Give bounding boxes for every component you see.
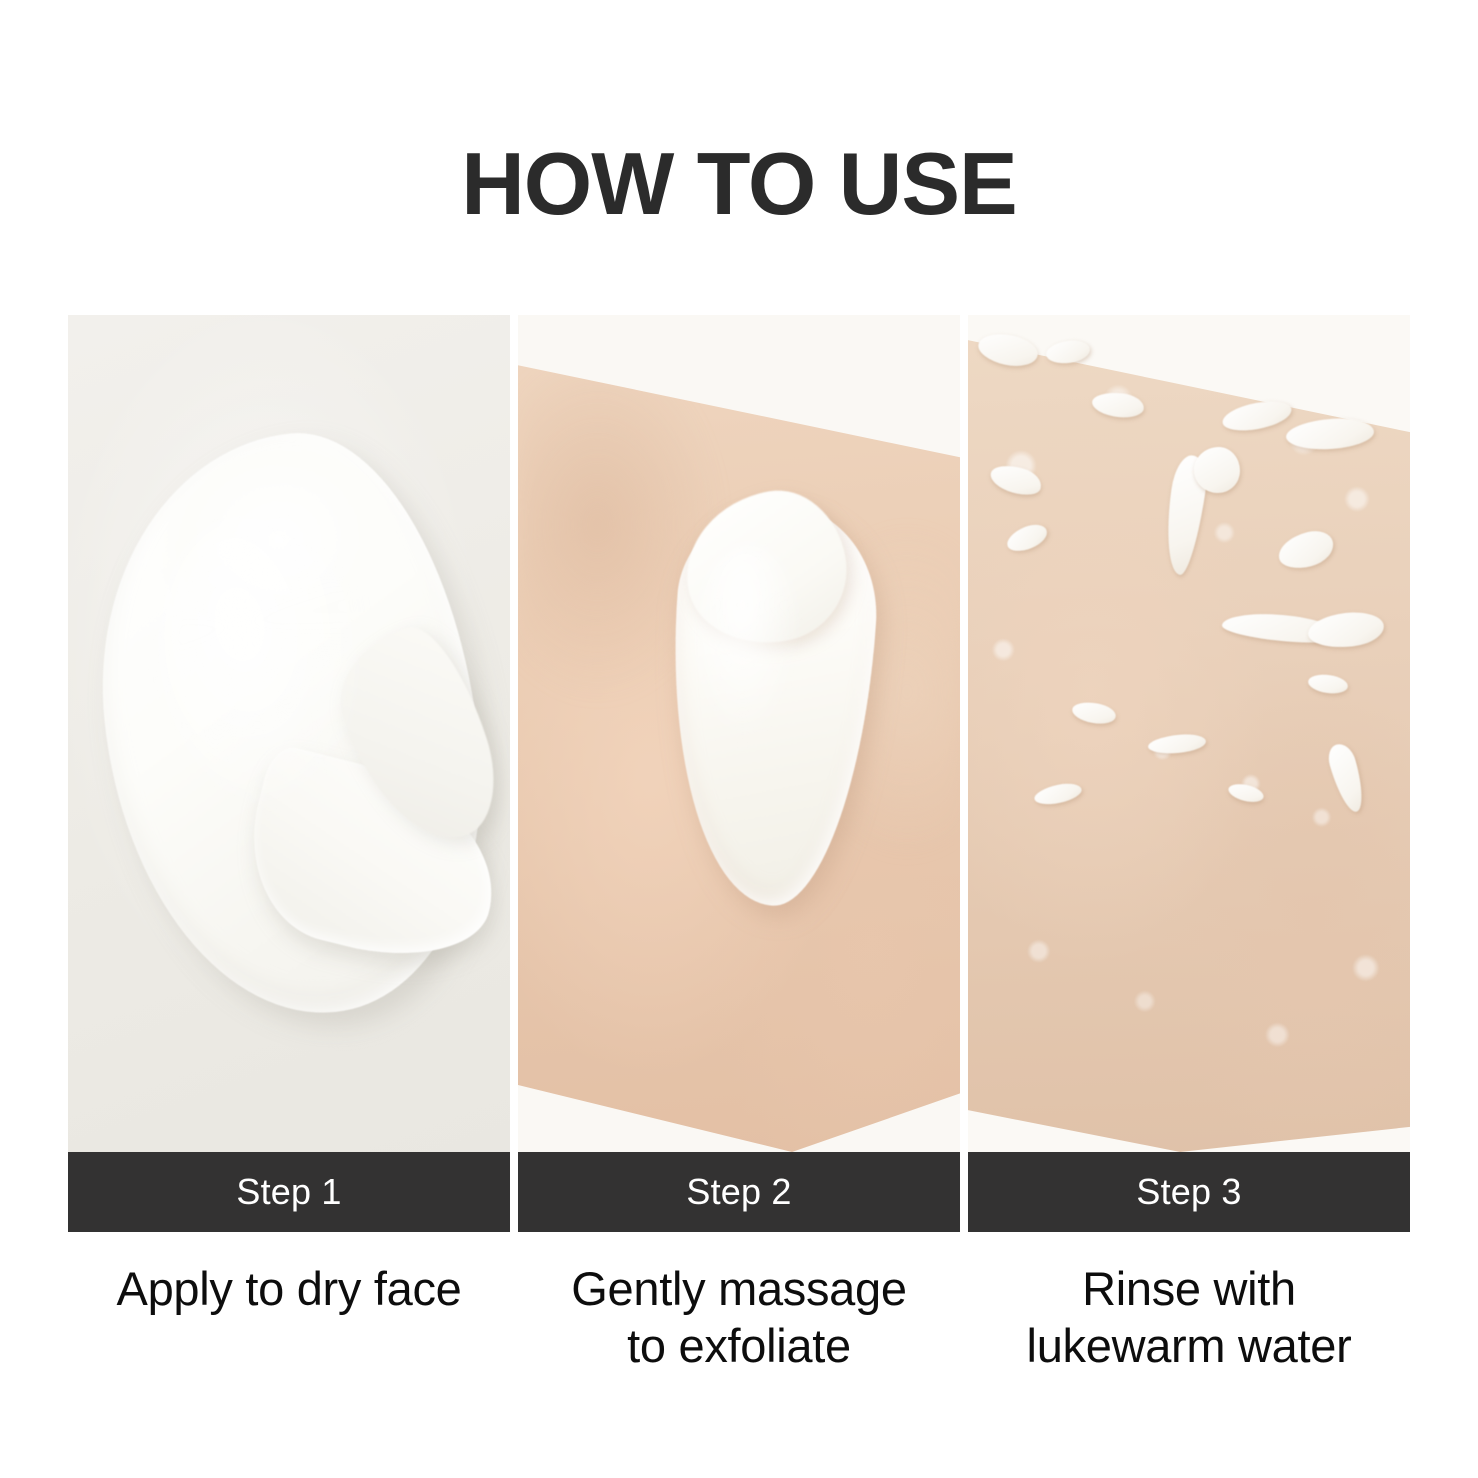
step-2-caption-line-2: to exfoliate	[518, 1317, 960, 1374]
step-1-badge: Step 1	[68, 1152, 510, 1232]
exfoliant-flake	[1194, 447, 1240, 493]
step-card-3: Step 3 Rinse with lukewarm water	[968, 315, 1410, 1375]
step-2-caption-line-1: Gently massage	[518, 1260, 960, 1317]
step-3-caption: Rinse with lukewarm water	[968, 1260, 1410, 1375]
step-3-badge: Step 3	[968, 1152, 1410, 1232]
step-2-caption: Gently massage to exfoliate	[518, 1260, 960, 1375]
step-1-badge-label: Step 1	[236, 1174, 341, 1210]
step-3-caption-line-2: lukewarm water	[968, 1317, 1410, 1374]
step-3-badge-label: Step 3	[1136, 1174, 1241, 1210]
step-1-image	[68, 315, 510, 1152]
step-3-caption-line-1: Rinse with	[968, 1260, 1410, 1317]
step-1-caption-line-1: Apply to dry face	[68, 1260, 510, 1317]
step-card-1: Step 1 Apply to dry face	[68, 315, 510, 1375]
step-3-image	[968, 315, 1410, 1152]
step-2-badge-label: Step 2	[686, 1174, 791, 1210]
step-card-2: Step 2 Gently massage to exfoliate	[518, 315, 960, 1375]
step-2-image	[518, 315, 960, 1152]
page-title: HOW TO USE	[0, 140, 1478, 228]
step-1-caption: Apply to dry face	[68, 1260, 510, 1317]
step-2-badge: Step 2	[518, 1152, 960, 1232]
cream-blob-highlight	[693, 545, 803, 745]
steps-row: Step 1 Apply to dry face Step 2 Gently m…	[68, 315, 1410, 1375]
